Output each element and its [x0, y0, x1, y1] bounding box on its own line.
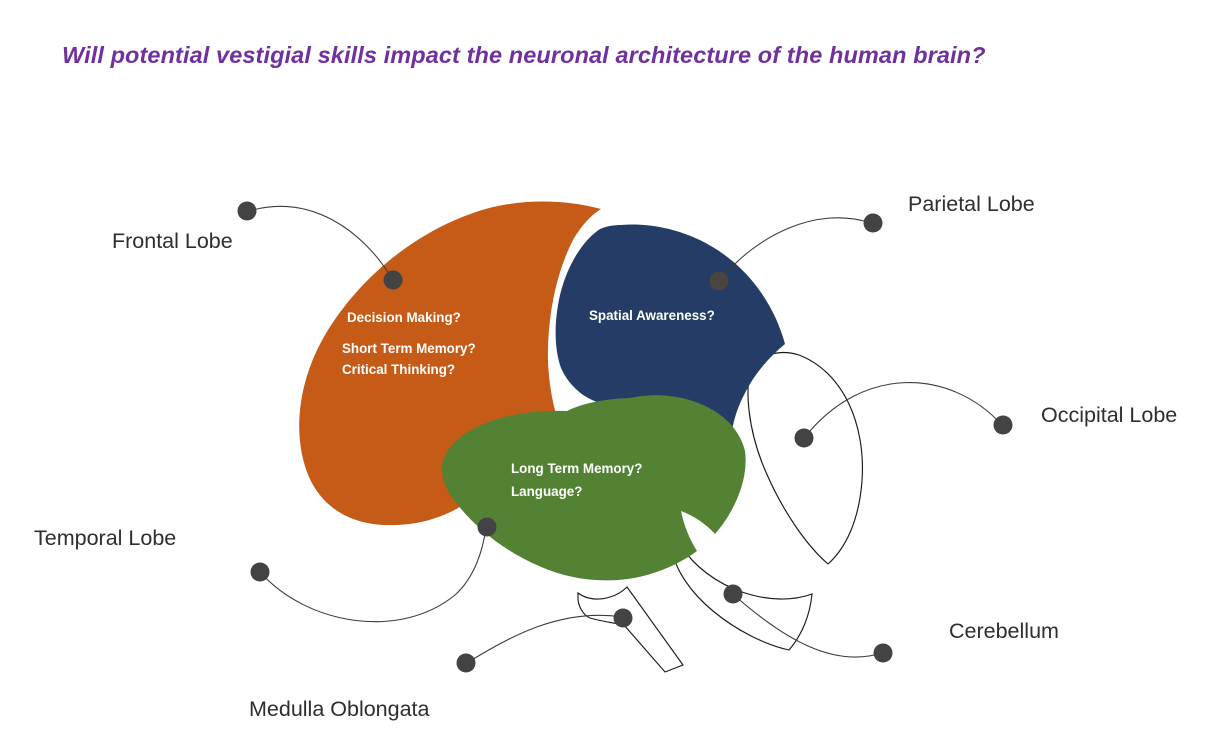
temporal-lobe-anchor-dot[interactable] [478, 518, 497, 537]
label-temporal-lobe[interactable]: Temporal Lobe [34, 526, 176, 550]
cerebellum-anchor-dot[interactable] [724, 585, 743, 604]
slide-canvas: Will potential vestigial skills impact t… [0, 0, 1216, 755]
frontal-annotation-3: Critical Thinking? [342, 362, 455, 377]
temporal-lobe-shape[interactable] [442, 395, 746, 580]
temporal-annotation-1: Long Term Memory? [511, 461, 642, 476]
frontal-lobe-label-dot[interactable] [238, 202, 257, 221]
frontal-annotation-2: Short Term Memory? [342, 341, 476, 356]
parietal-annotation-1: Spatial Awareness? [589, 308, 715, 323]
parietal-lobe-anchor-dot[interactable] [710, 272, 729, 291]
frontal-lobe-anchor-dot[interactable] [384, 271, 403, 290]
medulla-oblongata-anchor-dot[interactable] [614, 609, 633, 628]
label-medulla-oblongata[interactable]: Medulla Oblongata [249, 697, 430, 721]
temporal-lobe-label-dot[interactable] [251, 563, 270, 582]
occipital-lobe-label-dot[interactable] [994, 416, 1013, 435]
label-parietal-lobe[interactable]: Parietal Lobe [908, 192, 1035, 216]
medulla-oblongata-label-dot[interactable] [457, 654, 476, 673]
cerebellum-shape[interactable] [673, 546, 812, 650]
occipital-lobe-anchor-dot[interactable] [795, 429, 814, 448]
label-frontal-lobe[interactable]: Frontal Lobe [112, 229, 233, 253]
frontal-lobe-connector [249, 206, 393, 280]
label-occipital-lobe[interactable]: Occipital Lobe [1041, 403, 1177, 427]
parietal-lobe-label-dot[interactable] [864, 214, 883, 233]
temporal-lobe-connector [261, 527, 486, 622]
cerebellum-label-dot[interactable] [874, 644, 893, 663]
frontal-annotation-1: Decision Making? [347, 310, 461, 325]
label-cerebellum[interactable]: Cerebellum [949, 619, 1059, 643]
temporal-annotation-2: Language? [511, 484, 582, 499]
medulla-oblongata-connector [467, 615, 622, 663]
medulla-oblongata-shape[interactable] [578, 587, 683, 672]
occipital-lobe-shape[interactable] [748, 353, 862, 564]
brain-diagram: Decision Making? Short Term Memory? Crit… [0, 0, 1216, 755]
